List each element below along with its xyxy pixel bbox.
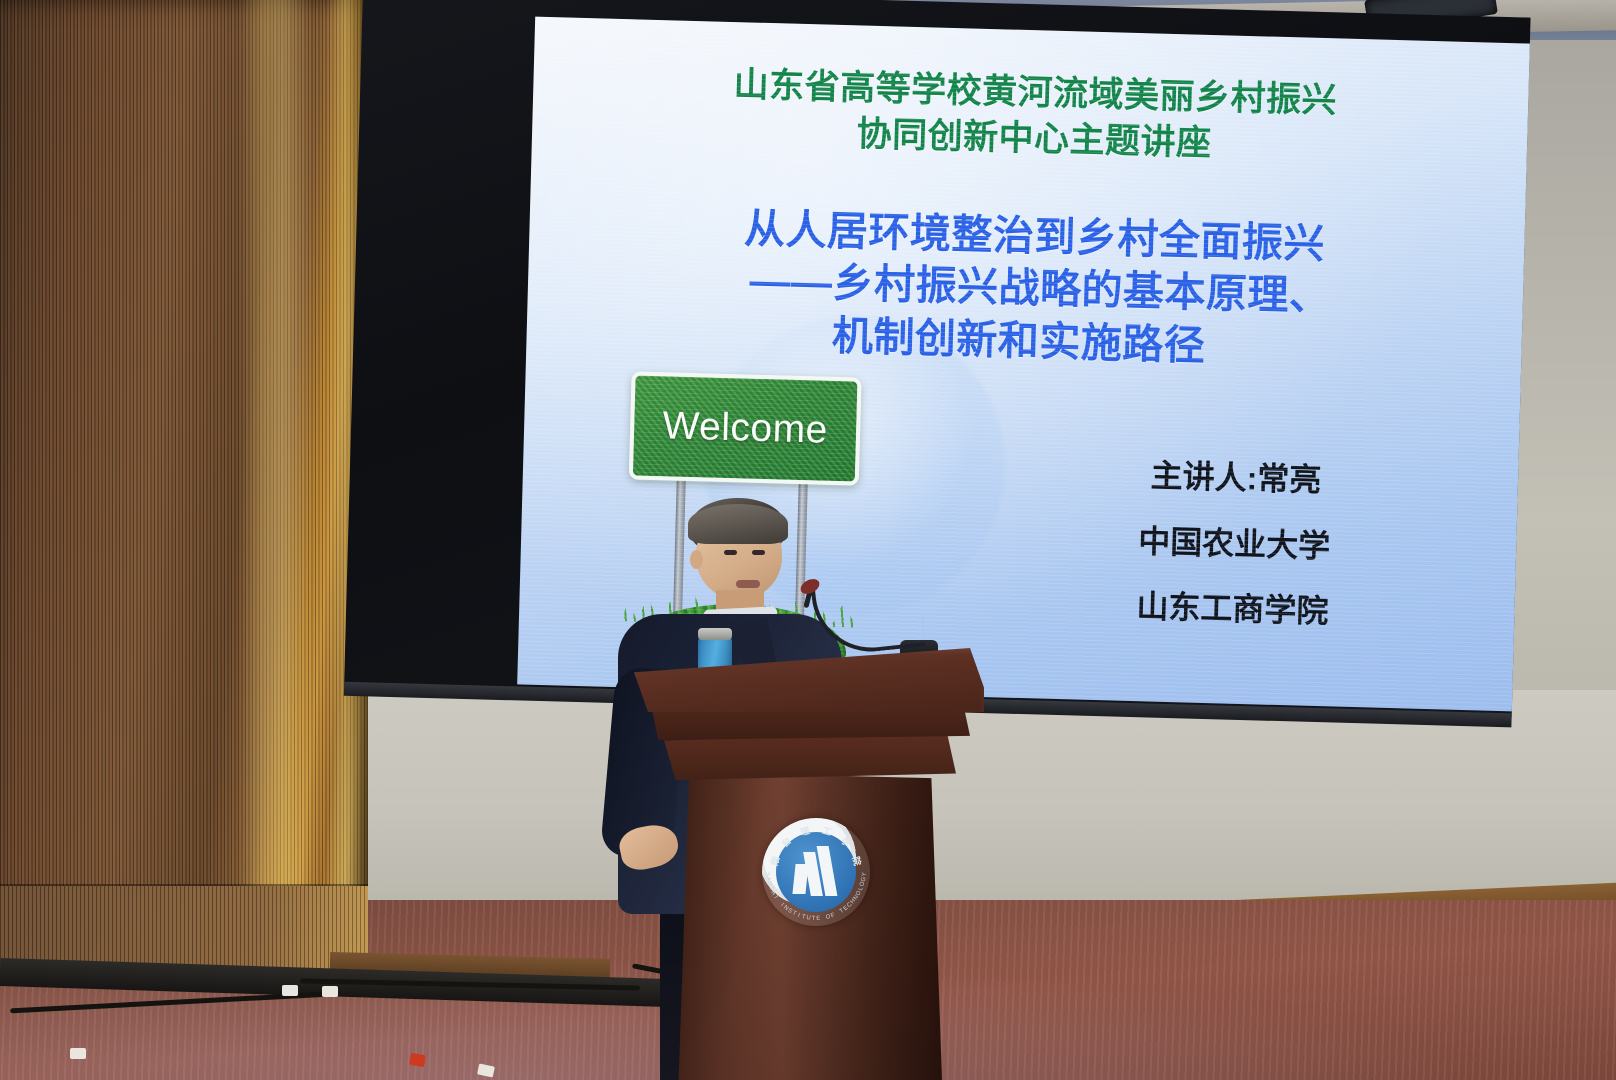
podium-desktop <box>634 648 984 712</box>
sign-label: Welcome <box>633 376 858 482</box>
podium-mid-band <box>664 734 956 780</box>
slide-presenter-block: 主讲人:常亮 中国农业大学 山东工商学院 <box>1017 440 1452 648</box>
speaker-hair-top <box>688 504 788 544</box>
university-emblem: 烟台理工学院 YANTAI INSTITUTE OF TECHNOLOGY <box>762 818 870 926</box>
slide-header: 山东省高等学校黄河流域美丽乡村振兴 协同创新中心主题讲座 <box>594 58 1476 173</box>
speaker-eye <box>724 550 737 555</box>
wood-slat-wall <box>0 0 368 985</box>
podium: 烟台理工学院 YANTAI INSTITUTE OF TECHNOLOGY <box>634 648 984 1080</box>
speaker-ear <box>690 550 703 569</box>
presentation-screen[interactable]: 山东省高等学校黄河流域美丽乡村振兴 协同创新中心主题讲座 从人居环境整治到乡村全… <box>343 0 1530 747</box>
thermos-cup-lid <box>698 628 732 640</box>
cable-tape-marker <box>70 1048 86 1059</box>
wood-wall-highlight <box>238 0 312 985</box>
presenter-affiliation-1: 中国农业大学 <box>1018 506 1450 583</box>
lecture-hall-photo: 山东省高等学校黄河流域美丽乡村振兴 协同创新中心主题讲座 从人居环境整治到乡村全… <box>0 0 1616 1080</box>
sign-board: Welcome <box>629 371 862 485</box>
speaker-mouth <box>736 580 760 588</box>
presenter-name: 主讲人:常亮 <box>1020 440 1452 517</box>
cable-tape-marker-red <box>409 1053 426 1067</box>
cable-tape-marker <box>282 985 298 996</box>
presenter-affiliation-2: 山东工商学院 <box>1017 571 1449 648</box>
emblem-english-text: YANTAI INSTITUTE OF TECHNOLOGY <box>762 818 870 926</box>
cable-tape-marker <box>322 986 338 997</box>
speaker-eye <box>752 550 765 555</box>
